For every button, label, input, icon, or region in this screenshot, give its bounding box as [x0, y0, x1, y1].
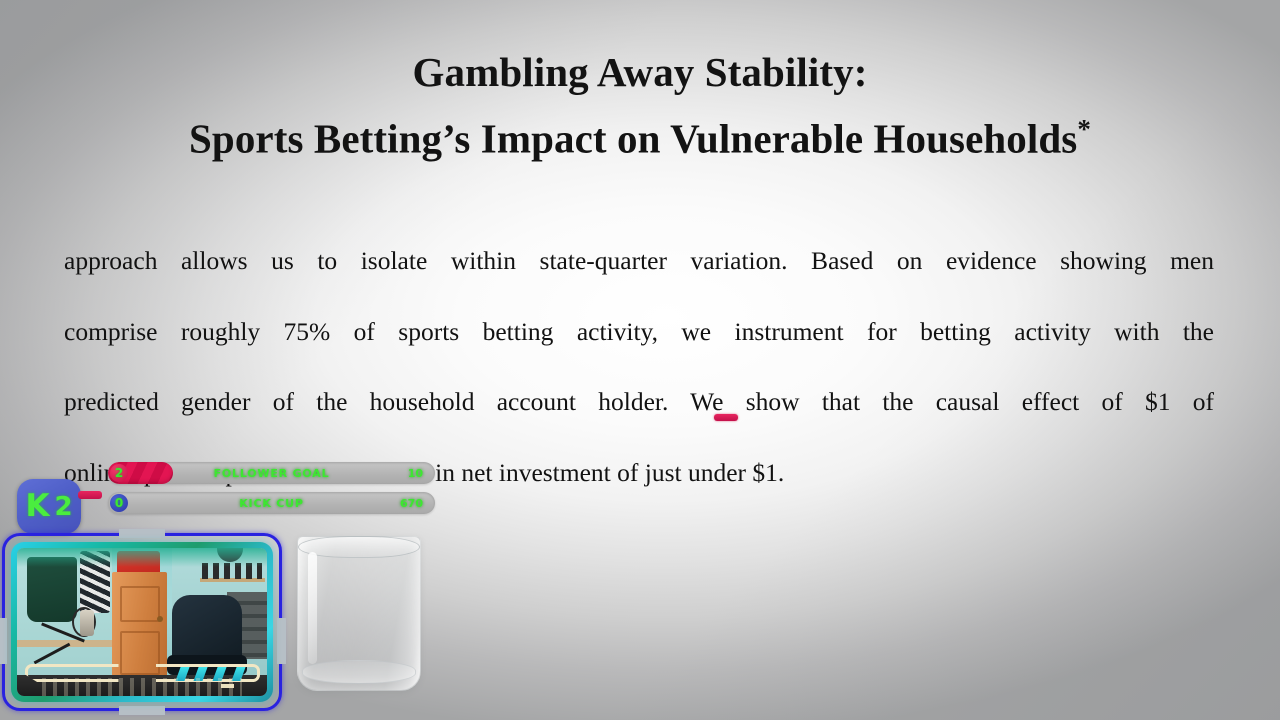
badge-letter: K [25, 491, 49, 522]
glass-base [302, 660, 416, 684]
kick-cup-goal-bar[interactable]: 0 KICK CUP 670 [108, 492, 435, 514]
frame-notch-left [0, 618, 7, 664]
drinking-glass-icon [297, 536, 421, 691]
badge-accent-bar [78, 491, 102, 499]
kick-cup-goal-target: 670 [400, 492, 423, 514]
kick-cup-goal-label: KICK CUP [108, 492, 435, 514]
title-line-1: Gambling Away Stability: [0, 44, 1280, 101]
text-cursor-marker-icon [714, 414, 738, 421]
body-line-1: approach allows us to isolate within sta… [64, 226, 1214, 297]
room-microphone [80, 610, 94, 636]
title-line-2-text: Sports Betting’s Impact on Vulnerable Ho… [189, 116, 1077, 162]
room-shelf-items [202, 563, 262, 579]
webcam-inner-frame [11, 542, 273, 702]
webcam-frame[interactable] [2, 533, 282, 711]
kick-logo-icon[interactable]: K 2 [17, 479, 81, 534]
frame-notch-right [277, 618, 286, 664]
body-line-3: predicted gender of the household accoun… [64, 367, 1214, 438]
follower-goal-bar[interactable]: 2 FOLLOWER GOAL 10 [108, 462, 435, 484]
glass-highlight [308, 552, 317, 664]
room-hanging-jersey [80, 551, 110, 613]
room-floor [17, 675, 267, 696]
page-title: Gambling Away Stability: Sports Betting’… [0, 44, 1280, 168]
webcam-feed [17, 548, 267, 696]
room-office-chair-seat [167, 655, 247, 676]
body-line-2: comprise roughly 75% of sports betting a… [64, 297, 1214, 368]
room-door-panel-upper [120, 586, 160, 622]
room-door-panel-lower [120, 631, 160, 675]
frame-notch-top [119, 529, 165, 538]
title-footnote-marker: * [1077, 114, 1091, 144]
room-hanging-hoodie [27, 557, 77, 622]
follower-goal-target: 10 [408, 462, 423, 484]
title-line-2: Sports Betting’s Impact on Vulnerable Ho… [0, 101, 1280, 168]
frame-notch-bottom [119, 706, 165, 715]
follower-goal-label: FOLLOWER GOAL [108, 462, 435, 484]
badge-count: 2 [54, 494, 72, 520]
